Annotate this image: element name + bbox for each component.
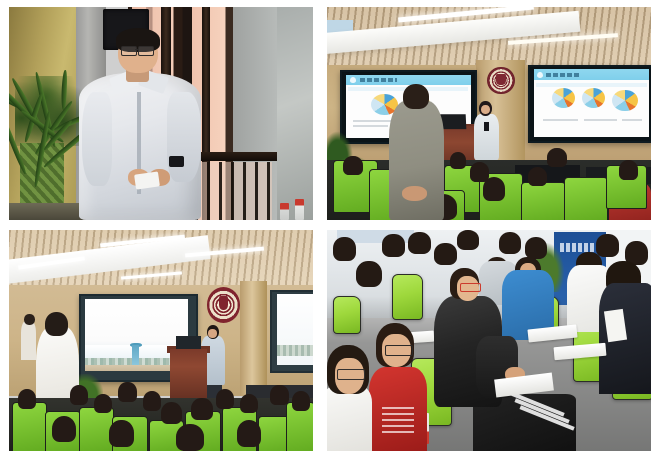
wall-pillar [240,281,267,396]
audience-head [237,420,261,447]
audience-head [343,156,362,175]
scene-speaker-by-window [9,7,313,220]
green-chair [333,296,361,333]
pie-chart [552,88,575,108]
water-bottle [280,203,289,220]
attendee-standing-far [21,321,36,361]
standing-attendee-head [403,84,429,110]
audience-head [143,391,161,411]
audience-head [434,243,457,265]
laptop [176,336,200,349]
presenter-body [474,114,498,161]
green-chair [564,177,608,220]
photo-bottom-left[interactable] [9,230,313,451]
photo-top-right[interactable] [327,7,651,220]
pie-chart [582,88,605,108]
slide-header-icon [350,77,356,83]
eyeglasses-icon [337,369,365,380]
slide-subbar [536,83,647,87]
attendee-collar [604,308,628,341]
scene-lecture-hall-wide [9,230,313,451]
audience-head [408,232,431,254]
audience-head [333,237,356,261]
audience-head [528,167,547,186]
scene-audience-closeup [327,230,651,451]
audience-head [356,261,382,288]
audience-head [483,177,506,200]
university-emblem-core [219,296,229,309]
audience-head [450,152,466,169]
slide-cityscape [277,345,313,356]
audience-head [292,391,310,411]
audience-head [457,230,480,250]
eyeglasses-bridge [135,49,138,50]
slide-text-line [584,119,616,121]
slide-header-bar [346,75,471,85]
glass-panel-right [277,7,313,220]
audience-head [382,234,405,256]
green-chair [392,274,423,320]
audience-head [52,416,76,443]
scene-lecture-hall-two-screens [327,7,651,220]
potted-palm-plant [9,67,88,220]
green-chair [521,182,565,220]
slide-tower [132,345,139,365]
shirt-graphic-text [382,407,414,434]
photo-collage [0,0,659,458]
slide-canvas-right [534,69,650,136]
attendee-head [24,314,34,325]
red-eyeglasses-icon [460,283,481,292]
projection-screen-right[interactable] [528,65,651,144]
laptop [440,114,467,129]
presenter-arm-right [167,92,200,181]
slide-header-icon [537,72,543,78]
banner-text [560,243,596,252]
wristwatch-icon [169,156,184,167]
audience-head [191,398,212,420]
slide-text-line [543,119,578,121]
audience-head [619,160,638,179]
audience-head [176,424,203,451]
slide-text-line [622,119,643,121]
eyeglasses-icon [138,46,154,55]
photo-bottom-right[interactable] [327,230,651,451]
water-bottle [295,199,305,220]
photo-top-left[interactable] [9,7,313,220]
audience-head [94,394,112,414]
standing-attendee-hands [402,186,428,201]
slide-header-title-text [546,73,581,77]
audience-head [596,234,619,256]
standing-attendee-body [389,101,444,220]
eyeglasses-icon [121,46,137,55]
audience-head [499,232,522,254]
green-chair [12,402,47,451]
attendee-head [45,312,68,336]
audience-head [161,402,182,424]
audience-head [70,385,88,405]
presenter-arm-left [82,92,112,186]
microphone-icon [484,122,489,131]
audience-head [118,382,136,402]
university-emblem-core [496,74,505,85]
audience-head [216,389,234,409]
foreground-attendee-body [327,385,372,451]
audience-head [525,237,548,259]
pie-chart [612,90,637,111]
slide-header-bar [534,69,650,80]
slide-header-title-text [360,78,397,82]
audience-head [109,420,133,447]
audience-head [240,394,258,414]
slide-text-line [353,125,388,127]
audience-head [547,148,566,167]
audience-head [18,389,36,409]
eyeglasses-icon [385,345,413,356]
audience-head [270,385,288,405]
